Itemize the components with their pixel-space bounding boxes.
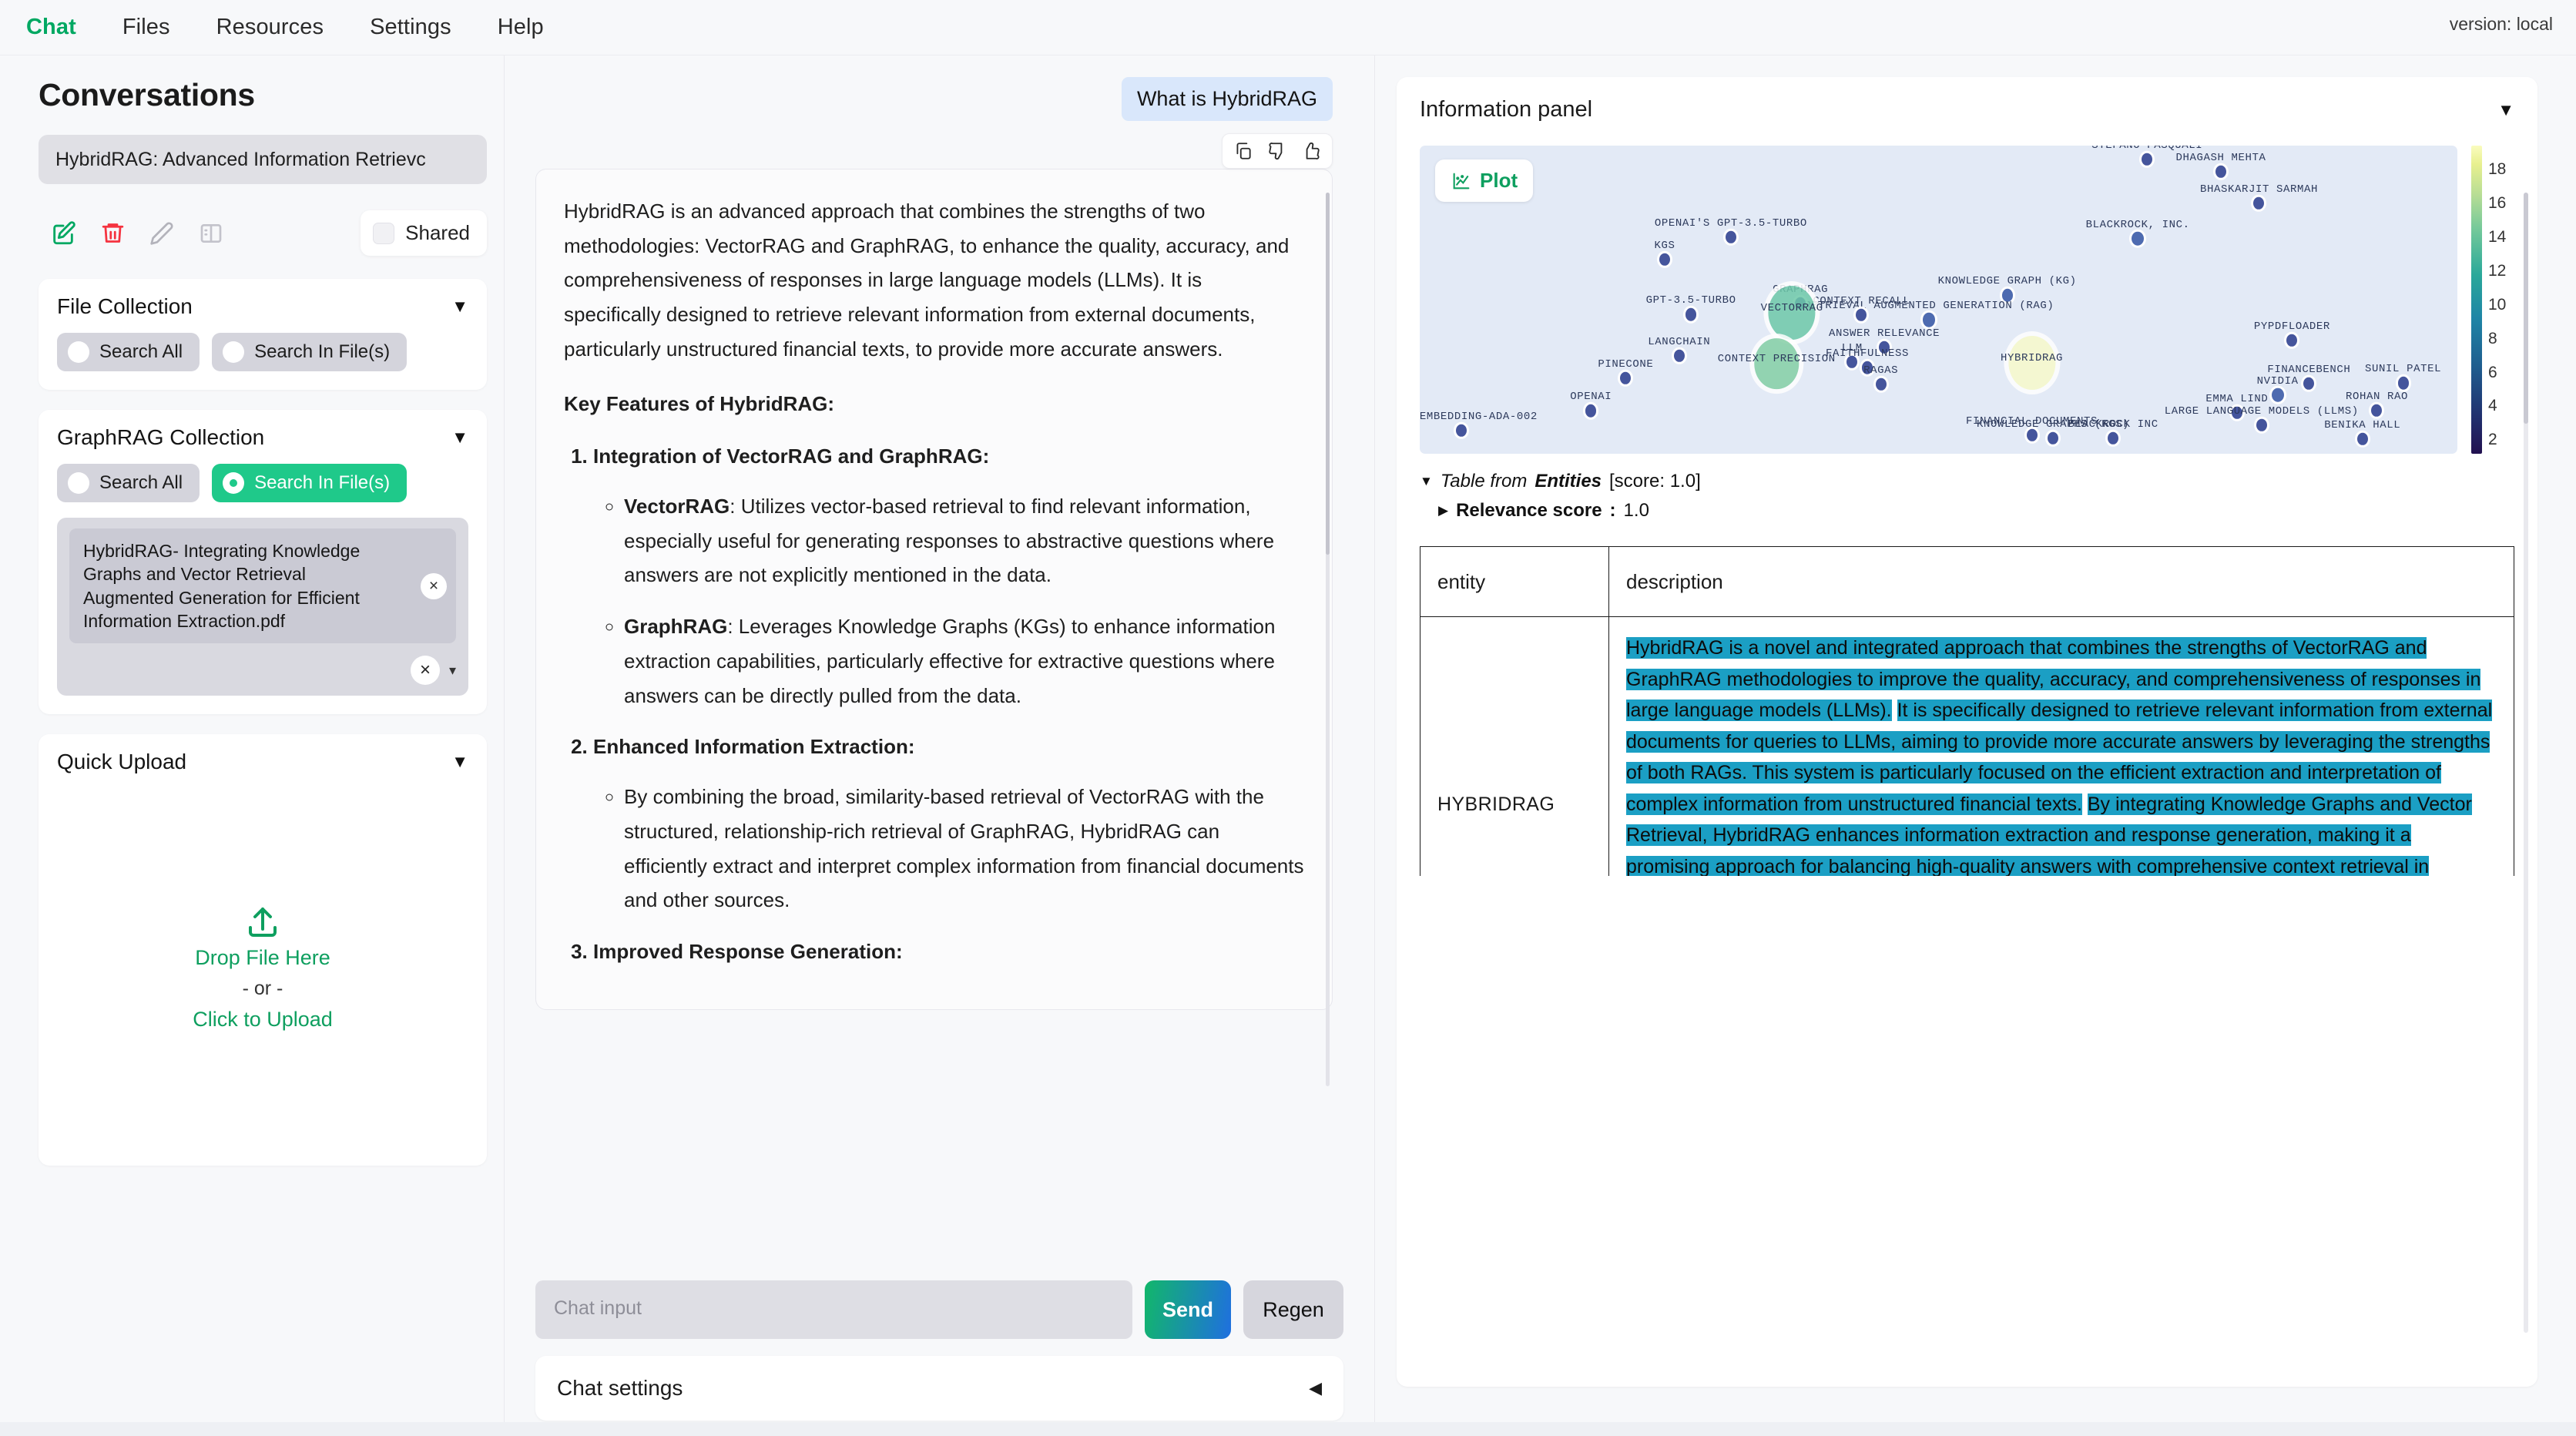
trash-icon: [100, 220, 126, 246]
colorbar-gradient: [2471, 146, 2482, 454]
graph-node-label: BLACKROCK, INC.: [2086, 219, 2190, 231]
information-panel-title: Information panel: [1420, 97, 1592, 122]
file-collection-mode-group: Search All Search In File(s): [57, 333, 468, 371]
new-chat-icon: [50, 220, 76, 247]
graph-node[interactable]: [2139, 151, 2155, 168]
click-to-upload-link[interactable]: Click to Upload: [193, 1008, 333, 1032]
colorbar-tick: 10: [2488, 296, 2506, 314]
table-metadata: ▼ Table from Entities [score: 1.0] ▶ Rel…: [1420, 471, 2514, 522]
graph-node[interactable]: [2213, 163, 2229, 179]
file-collection-search-in-files[interactable]: Search In File(s): [212, 333, 407, 371]
graph-node[interactable]: [1683, 306, 1699, 323]
file-collection-title: File Collection: [57, 294, 193, 319]
plot-icon: [1451, 170, 1472, 192]
conversation-toolbar: Shared: [39, 210, 487, 256]
graph-node-label: ANSWER RELEVANCE: [1829, 327, 1940, 340]
table-body: HYBRIDRAGHybridRAG is a novel and integr…: [1420, 617, 2514, 876]
plain-text: [2082, 793, 2088, 815]
chevron-down-icon[interactable]: ▾: [449, 663, 456, 679]
entity-table: entity description HYBRIDRAGHybridRAG is…: [1420, 546, 2514, 876]
quick-upload-header[interactable]: Quick Upload ▼: [57, 750, 468, 774]
info-column: Information panel ▼ Plot STEFANO PASQUAL…: [1375, 55, 2576, 1436]
graph-node[interactable]: [1618, 370, 1633, 387]
graphrag-search-all[interactable]: Search All: [57, 464, 200, 502]
graph-node[interactable]: [2251, 194, 2266, 211]
expand-open-icon[interactable]: ▼: [1420, 474, 1433, 489]
selected-file-chip[interactable]: HybridRAG- Integrating Knowledge Graphs …: [69, 528, 456, 643]
version-label: version: local: [2450, 14, 2553, 35]
entity-table-container: entity description HYBRIDRAGHybridRAG is…: [1420, 522, 2514, 876]
graph-node-label: CONTEXT RECALL: [1813, 295, 1910, 307]
sub-text: By combining the broad, similarity-based…: [624, 785, 1304, 911]
graph-node-label: VECTORRAG: [1761, 302, 1823, 314]
sidebar: Conversations HybridRAG: Advanced Inform…: [0, 55, 505, 1436]
nav-item-files[interactable]: Files: [122, 15, 170, 40]
cell-description: HybridRAG is a novel and integrated appr…: [1609, 617, 2514, 876]
chat-settings-title: Chat settings: [557, 1376, 683, 1401]
information-panel-header: Information panel ▼: [1420, 97, 2514, 122]
relevance-score-label: Relevance score: [1456, 500, 1602, 522]
graph-node-label: SUNIL PATEL: [2365, 363, 2441, 375]
file-collection-card: File Collection ▼ Search All Search In F…: [39, 279, 487, 390]
column-header-entity: entity: [1420, 547, 1609, 617]
radio-dot: [68, 472, 89, 494]
graph-node-label: NVIDIA: [2257, 375, 2299, 388]
graphrag-collection-title: GraphRAG Collection: [57, 425, 264, 450]
file-select-controls: × ▾: [69, 656, 456, 685]
drop-file-label: Drop File Here: [195, 946, 330, 970]
table-row: HYBRIDRAGHybridRAG is a novel and integr…: [1420, 617, 2514, 876]
graph-node[interactable]: [1672, 347, 1687, 364]
message-actions: [1222, 133, 1333, 169]
graph-node[interactable]: [2045, 429, 2061, 446]
regenerate-button[interactable]: Regen: [1243, 1280, 1343, 1339]
feature-subitem: GraphRAG: Leverages Knowledge Graphs (KG…: [624, 609, 1304, 713]
rename-conversation-button[interactable]: [137, 213, 186, 254]
chat-input[interactable]: [535, 1280, 1132, 1339]
colorbar-tick: 18: [2488, 160, 2506, 179]
radio-dot: [68, 341, 89, 363]
delete-conversation-button[interactable]: [88, 213, 137, 254]
quick-upload-title: Quick Upload: [57, 750, 186, 774]
graph-node[interactable]: [2284, 332, 2299, 349]
selected-file-name: HybridRAG- Integrating Knowledge Graphs …: [83, 539, 391, 632]
chevron-down-icon[interactable]: ▼: [2497, 102, 2514, 119]
new-chat-button[interactable]: [39, 213, 88, 254]
thumbs-down-button[interactable]: [1267, 141, 1287, 161]
graphrag-search-in-files[interactable]: Search In File(s): [212, 464, 407, 502]
colorbar: 18161412108642: [2471, 146, 2514, 454]
plot-button-label: Plot: [1480, 169, 1518, 193]
colorbar-tick: 12: [2488, 262, 2506, 280]
plain-text: [1892, 700, 1897, 721]
panel-scrollbar-thumb[interactable]: [2524, 193, 2528, 424]
feature-title: Enhanced Information Extraction:: [593, 735, 915, 758]
plot-button[interactable]: Plot: [1435, 159, 1533, 202]
graph-node[interactable]: [2129, 229, 2146, 248]
graph-node-label: KGS: [1655, 240, 1675, 252]
quick-upload-card: Quick Upload ▼ Drop File Here - or - Cli…: [39, 734, 487, 1166]
remove-file-icon[interactable]: ×: [421, 573, 447, 599]
panel-scrollbar[interactable]: [2524, 193, 2528, 1333]
graphrag-file-select[interactable]: HybridRAG- Integrating Knowledge Graphs …: [57, 518, 468, 696]
graph-node-label: OPENAI: [1570, 391, 1612, 403]
graph-node-label: CONTEXT PRECISION: [1718, 353, 1836, 365]
file-dropzone[interactable]: Drop File Here - or - Click to Upload: [57, 788, 468, 1147]
graph-node[interactable]: [2369, 401, 2384, 418]
thumbs-down-icon: [1267, 141, 1287, 161]
bottom-bar: [0, 1422, 2576, 1436]
copy-button[interactable]: [1233, 141, 1253, 161]
cell-entity: HYBRIDRAG: [1420, 617, 1609, 876]
feature-item: Integration of VectorRAG and GraphRAG: V…: [593, 439, 1304, 713]
chat-scrollbar[interactable]: [1326, 193, 1330, 1086]
colorbar-tick: 6: [2488, 364, 2497, 382]
radio-label: Search All: [99, 472, 183, 494]
graph-node[interactable]: [2355, 431, 2370, 448]
file-collection-header[interactable]: File Collection ▼: [57, 294, 468, 319]
graph-node-label: BLACKROCK INC: [2068, 418, 2158, 431]
split-view-button[interactable]: [186, 213, 236, 254]
graph-node-label: BHASKARJIT SARMAH: [2200, 183, 2318, 196]
feature-sublist: By combining the broad, similarity-based…: [624, 780, 1304, 918]
graph-section: Plot STEFANO PASQUALIDHAGASH MEHTABHASKA…: [1420, 146, 2514, 454]
graph-node[interactable]: [2105, 429, 2121, 446]
colorbar-tick: 14: [2488, 228, 2506, 247]
chat-scroll-area: What is HybridRAG: [535, 77, 1343, 1270]
chevron-down-icon[interactable]: ▼: [451, 429, 468, 446]
feature-sublist: VectorRAG: Utilizes vector-based retriev…: [624, 489, 1304, 713]
graph-node[interactable]: [2254, 417, 2269, 434]
send-button[interactable]: Send: [1145, 1280, 1231, 1339]
graph-node-label: FINANCEBENCH: [2267, 364, 2350, 376]
colorbar-tick: 8: [2488, 330, 2497, 348]
thumbs-up-button[interactable]: [1301, 141, 1321, 161]
conversations-heading: Conversations: [39, 77, 487, 113]
graph-node-label: PINECONE: [1598, 358, 1653, 371]
relevance-score-value: 1.0: [1624, 500, 1649, 522]
colorbar-tick: 16: [2488, 194, 2506, 213]
knowledge-graph-plot[interactable]: Plot STEFANO PASQUALIDHAGASH MEHTABHASKA…: [1420, 146, 2457, 454]
upload-icon: [244, 904, 281, 941]
chat-input-row: Send Regen: [535, 1280, 1343, 1339]
feature-subitem: VectorRAG: Utilizes vector-based retriev…: [624, 489, 1304, 592]
shared-label: Shared: [405, 221, 470, 245]
key-features-heading: Key Features of HybridRAG:: [564, 387, 1304, 421]
thumbs-up-icon: [1301, 141, 1321, 161]
graph-node[interactable]: [2396, 374, 2411, 391]
graph-node-label: GPT-3.5-TURBO: [1646, 294, 1736, 307]
shared-toggle[interactable]: Shared: [361, 210, 487, 256]
relevance-score-row[interactable]: ▶ Relevance score: 1.0: [1420, 500, 2514, 522]
graph-node-label: LANGCHAIN: [1648, 336, 1710, 348]
colorbar-tick: 2: [2488, 431, 2497, 449]
feature-title: Integration of VectorRAG and GraphRAG:: [593, 445, 989, 468]
graph-node-label: BENIKA HALL: [2324, 419, 2400, 431]
table-source-prefix: Table from: [1441, 471, 1528, 492]
graph-node[interactable]: [1873, 375, 1889, 392]
graph-node-label: ROHAN RAO: [2346, 391, 2408, 403]
table-source-row[interactable]: ▼ Table from Entities [score: 1.0]: [1420, 471, 2514, 492]
feature-item: Enhanced Information Extraction: By comb…: [593, 730, 1304, 918]
table-header-row: entity description: [1420, 547, 2514, 617]
graph-node-label: FAITHFULNESS: [1826, 347, 1909, 360]
graphrag-collection-card: GraphRAG Collection ▼ Search All Search …: [39, 410, 487, 714]
assistant-intro-paragraph: HybridRAG is an advanced approach that c…: [564, 194, 1304, 367]
feature-list: Integration of VectorRAG and GraphRAG: V…: [593, 439, 1304, 968]
graph-node-label: TEXT-EMBEDDING-ADA-002: [1420, 411, 1538, 423]
colorbar-tick: 4: [2488, 397, 2497, 415]
graph-node-label: HYBRIDRAG: [2001, 352, 2063, 364]
graph-node[interactable]: [2269, 386, 2286, 405]
radio-label: Search In File(s): [254, 472, 390, 494]
feature-subitem: By combining the broad, similarity-based…: [624, 780, 1304, 918]
sub-term: VectorRAG: [624, 495, 730, 518]
radio-label: Search In File(s): [254, 341, 390, 363]
file-collection-search-all[interactable]: Search All: [57, 333, 200, 371]
table-source-name: Entities: [1535, 471, 1602, 492]
radio-dot-selected: [223, 472, 244, 494]
information-panel: Information panel ▼ Plot STEFANO PASQUAL…: [1397, 77, 2537, 1387]
top-navigation: Chat Files Resources Settings Help versi…: [0, 0, 2576, 55]
graph-node-label: DHAGASH MEHTA: [2175, 152, 2266, 164]
nav-item-settings[interactable]: Settings: [370, 15, 451, 40]
panel-split-icon: [199, 221, 223, 246]
copy-icon: [1233, 141, 1253, 161]
shared-checkbox[interactable]: [373, 223, 394, 244]
graph-node-label: KNOWLEDGE GRAPH (KG): [1938, 275, 2077, 287]
nav-item-help[interactable]: Help: [498, 15, 544, 40]
graph-node[interactable]: [1723, 229, 1739, 246]
graph-node-label: PYPDFLOADER: [2254, 320, 2330, 333]
nav-item-resources[interactable]: Resources: [216, 15, 324, 40]
feature-title: Improved Response Generation:: [593, 940, 903, 963]
user-message-bubble: What is HybridRAG: [1122, 77, 1333, 121]
conversation-list-item[interactable]: HybridRAG: Advanced Information Retrievc: [39, 135, 487, 184]
assistant-message: HybridRAG is an advanced approach that c…: [535, 169, 1333, 1010]
sub-term: GraphRAG: [624, 615, 727, 638]
graph-node[interactable]: [1583, 402, 1598, 419]
graph-node[interactable]: [1454, 421, 1469, 438]
graphrag-mode-group: Search All Search In File(s): [57, 464, 468, 502]
chat-scrollbar-thumb[interactable]: [1326, 193, 1330, 555]
graph-node[interactable]: [2301, 374, 2316, 391]
or-separator-label: - or -: [243, 978, 283, 1000]
chat-fade-overlay: [566, 1223, 1302, 1270]
graph-node-label: EMMA LIND: [2205, 393, 2268, 405]
graph-node-label: LARGE LANGUAGE MODELS (LLMS): [2165, 405, 2359, 418]
graph-node[interactable]: [1853, 307, 1869, 324]
clear-selection-icon[interactable]: ×: [411, 656, 440, 685]
chevron-down-icon[interactable]: ▼: [451, 298, 468, 315]
expand-closed-icon[interactable]: ▶: [1438, 503, 1448, 518]
nav-item-chat[interactable]: Chat: [26, 15, 76, 40]
column-header-description: description: [1609, 547, 2514, 617]
chevron-down-icon[interactable]: ▼: [451, 753, 468, 770]
chat-column: What is HybridRAG: [505, 55, 1375, 1436]
table-source-score: [score: 1.0]: [1609, 471, 1701, 492]
pencil-icon: [149, 221, 174, 246]
graph-node[interactable]: [1657, 251, 1672, 268]
radio-label: Search All: [99, 341, 183, 363]
graphrag-collection-header[interactable]: GraphRAG Collection ▼: [57, 425, 468, 450]
chevron-left-icon[interactable]: ◀: [1309, 1378, 1322, 1398]
graph-node-label: OPENAI'S GPT-3.5-TURBO: [1655, 217, 1807, 230]
chat-settings-panel[interactable]: Chat settings ◀: [535, 1356, 1343, 1421]
graph-node-label: RAGAS: [1863, 364, 1898, 377]
feature-item: Improved Response Generation:: [593, 934, 1304, 969]
radio-dot: [223, 341, 244, 363]
